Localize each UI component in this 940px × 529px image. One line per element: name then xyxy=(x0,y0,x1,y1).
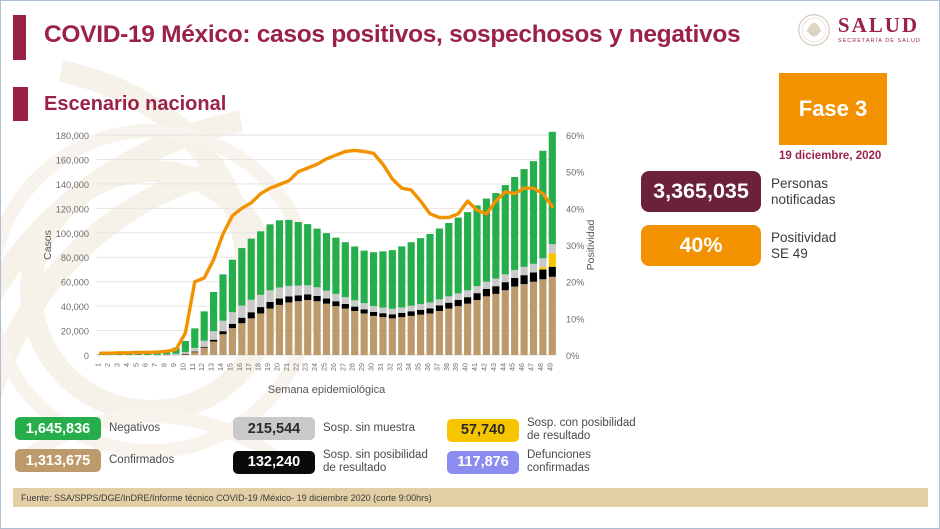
bar-segment xyxy=(191,352,198,355)
bar-segment xyxy=(530,272,537,281)
bar-segment xyxy=(473,205,480,286)
y-axis-tick-label: 140,000 xyxy=(56,180,89,190)
bar-segment xyxy=(445,223,452,296)
bar-segment xyxy=(370,316,377,355)
bar-segment xyxy=(417,310,424,315)
x-axis-tick-label: 8 xyxy=(160,363,169,367)
bar-segment xyxy=(379,317,386,355)
chart-legend: 1,645,836 Negativos 1,313,675 Confirmado… xyxy=(15,415,675,483)
bar-segment xyxy=(295,222,302,286)
bar-segment xyxy=(238,323,245,355)
bar-segment xyxy=(389,250,396,309)
bar-segment xyxy=(295,286,302,296)
bar-segment xyxy=(191,328,198,348)
section-title: Escenario nacional xyxy=(44,93,226,116)
bar-segment xyxy=(285,220,292,286)
bar-segment xyxy=(549,277,556,355)
kpi-value-positividad: 40% xyxy=(641,225,761,266)
kpi-label-line1: Personas xyxy=(771,176,828,191)
x-axis-title: Semana epidemiológica xyxy=(268,384,386,396)
bar-segment xyxy=(361,303,368,309)
bar-segment xyxy=(191,352,198,353)
mexico-seal-icon xyxy=(797,13,831,47)
bar-segment xyxy=(323,304,330,355)
bar-segment xyxy=(342,309,349,355)
bar-segment xyxy=(229,312,236,324)
y2-axis-tick-label: 20% xyxy=(566,278,584,288)
bar-segment xyxy=(398,317,405,355)
bar-segment xyxy=(473,300,480,355)
x-axis-tick-label: 7 xyxy=(150,363,159,367)
bar-segment xyxy=(351,311,358,355)
bar-segment xyxy=(266,309,273,355)
legend-label-defunciones: Defunciones confirmadas xyxy=(527,449,591,475)
bar-segment xyxy=(295,301,302,355)
y2-axis-tick-label: 50% xyxy=(566,168,584,178)
bar-segment xyxy=(314,301,321,355)
y-axis-tick-label: 80,000 xyxy=(61,253,89,263)
x-axis-tick-label: 24 xyxy=(310,363,319,371)
bar-segment xyxy=(314,287,321,296)
x-axis-tick-label: 15 xyxy=(225,363,234,371)
legend-value-sosp-con-posibilidad: 57,740 xyxy=(447,419,519,442)
bar-segment xyxy=(332,294,339,301)
x-axis-tick-label: 16 xyxy=(235,363,244,371)
bar-segment xyxy=(426,308,433,313)
bar-segment xyxy=(530,161,537,264)
bar-segment xyxy=(219,321,226,331)
legend-label-line2: de resultado xyxy=(527,430,590,442)
bar-segment xyxy=(201,341,208,347)
bar-segment xyxy=(455,218,462,294)
bar-segment xyxy=(492,279,499,287)
kpi-label-notificadas: Personas notificadas xyxy=(771,176,836,207)
y-axis-tick-label: 120,000 xyxy=(56,204,89,214)
bar-segment xyxy=(492,294,499,355)
bar-segment xyxy=(530,282,537,355)
y2-axis-tick-label: 10% xyxy=(566,314,584,324)
source-footer: Fuente: SSA/SPPS/DGE/InDRE/Informe técni… xyxy=(13,488,928,507)
bar-segment xyxy=(332,238,339,294)
salud-logo: SALUD SECRETARÍA DE SALUD xyxy=(797,13,921,47)
bar-segment xyxy=(408,311,415,316)
y-axis-tick-label: 160,000 xyxy=(56,155,89,165)
y2-axis-tick-label: 40% xyxy=(566,204,584,214)
x-axis-tick-label: 23 xyxy=(301,363,310,371)
bar-segment xyxy=(361,251,368,304)
x-axis-tick-label: 25 xyxy=(320,363,329,371)
x-axis-tick-label: 29 xyxy=(357,363,366,371)
x-axis-tick-label: 34 xyxy=(404,363,413,371)
bar-segment xyxy=(191,348,198,352)
kpi-label-positividad: Positividad SE 49 xyxy=(771,230,836,261)
bar-segment xyxy=(248,312,255,318)
bar-segment xyxy=(182,352,189,354)
bar-segment xyxy=(210,292,217,331)
bar-segment xyxy=(182,341,189,352)
y-axis-tick-label: 60,000 xyxy=(61,278,89,288)
bar-segment xyxy=(266,302,273,309)
x-axis-tick-label: 9 xyxy=(169,363,178,367)
y2-axis-tick-label: 30% xyxy=(566,241,584,251)
bar-segment xyxy=(370,252,377,306)
x-axis-tick-label: 6 xyxy=(141,363,150,367)
bar-segment xyxy=(549,132,556,244)
logo-subtitle: SECRETARÍA DE SALUD xyxy=(838,39,921,44)
x-axis-tick-label: 32 xyxy=(385,363,394,371)
bar-segment xyxy=(521,169,528,267)
bar-segment xyxy=(266,224,273,290)
bar-segment xyxy=(455,293,462,300)
legend-item-sosp-sin-muestra: 215,544 Sosp. sin muestra xyxy=(233,417,415,440)
bar-segment xyxy=(276,305,283,355)
source-text: Fuente: SSA/SPPS/DGE/InDRE/Informe técni… xyxy=(13,493,432,503)
bar-segment xyxy=(408,306,415,312)
bar-segment xyxy=(342,304,349,309)
bar-segment xyxy=(455,300,462,306)
bar-segment xyxy=(210,342,217,355)
x-axis-tick-label: 45 xyxy=(508,363,517,371)
legend-label-line1: Confirmados xyxy=(109,454,174,466)
bar-segment xyxy=(238,306,245,318)
x-axis-tick-label: 10 xyxy=(178,363,187,371)
x-axis-tick-label: 11 xyxy=(188,363,197,370)
bar-segment xyxy=(276,299,283,305)
bar-segment xyxy=(539,270,546,280)
bar-segment xyxy=(408,242,415,306)
x-axis-tick-label: 39 xyxy=(451,363,460,371)
bar-segment xyxy=(304,294,311,300)
legend-value-negativos: 1,645,836 xyxy=(15,417,101,440)
bar-segment xyxy=(436,306,443,312)
bar-segment xyxy=(426,302,433,308)
x-axis-tick-label: 36 xyxy=(423,363,432,371)
bar-segment xyxy=(219,334,226,355)
bar-segment xyxy=(417,238,424,304)
x-axis-tick-label: 14 xyxy=(216,363,225,371)
bar-segment xyxy=(172,354,179,355)
x-axis-tick-label: 40 xyxy=(461,363,470,371)
bar-segment xyxy=(219,331,226,334)
bar-segment xyxy=(323,299,330,304)
x-axis-tick-label: 27 xyxy=(338,363,347,371)
bar-segment xyxy=(464,290,471,297)
x-axis-tick-label: 17 xyxy=(244,363,253,371)
bar-segment xyxy=(361,313,368,355)
x-axis-tick-label: 1 xyxy=(94,363,103,367)
legend-label-line2: de resultado xyxy=(323,462,386,474)
bar-segment xyxy=(464,212,471,290)
y-axis-tick-label: 100,000 xyxy=(56,229,89,239)
bar-segment xyxy=(398,313,405,317)
legend-label-sosp-sin-posibilidad: Sosp. sin posibilidad de resultado xyxy=(323,449,428,475)
bar-segment xyxy=(229,328,236,355)
bar-segment xyxy=(257,231,264,295)
x-axis-tick-label: 28 xyxy=(348,363,357,371)
bar-segment xyxy=(549,244,556,253)
legend-label-confirmados: Confirmados xyxy=(109,454,174,467)
bar-segment xyxy=(304,285,311,294)
bar-segment xyxy=(417,315,424,355)
legend-label-line1: Sosp. con posibilidad xyxy=(527,417,636,429)
x-axis-tick-label: 20 xyxy=(272,363,281,371)
kpi-label-line2: SE 49 xyxy=(771,246,808,261)
bar-segment xyxy=(257,295,264,307)
legend-label-line2: confirmadas xyxy=(527,462,590,474)
legend-label-sosp-sin-muestra: Sosp. sin muestra xyxy=(323,422,415,435)
bar-segment xyxy=(502,282,509,290)
x-axis-tick-label: 21 xyxy=(282,363,291,371)
bar-segment xyxy=(276,220,283,287)
bar-segment xyxy=(539,279,546,355)
bar-segment xyxy=(285,286,292,296)
y2-axis-tick-label: 0% xyxy=(566,351,579,361)
x-axis-tick-label: 13 xyxy=(207,363,216,371)
kpi-positividad: 40% Positividad SE 49 xyxy=(641,225,836,266)
bar-segment xyxy=(426,234,433,302)
legend-item-defunciones: 117,876 Defunciones confirmadas xyxy=(447,449,591,475)
bar-segment xyxy=(511,270,518,278)
bar-segment xyxy=(163,355,170,356)
bar-segment xyxy=(398,246,405,307)
legend-label-line1: Defunciones xyxy=(527,449,591,461)
bar-segment xyxy=(492,286,499,294)
bar-segment xyxy=(521,284,528,355)
bar-segment xyxy=(285,302,292,355)
section-accent-bar xyxy=(13,87,28,121)
legend-value-defunciones: 117,876 xyxy=(447,451,519,474)
x-axis-tick-label: 35 xyxy=(414,363,423,371)
title-accent-bar xyxy=(13,15,26,60)
x-axis-tick-label: 4 xyxy=(122,363,131,367)
bar-segment xyxy=(511,278,518,287)
x-axis-tick-label: 18 xyxy=(254,363,263,371)
kpi-personas-notificadas: 3,365,035 Personas notificadas xyxy=(641,171,836,212)
bar-segment xyxy=(539,267,546,269)
bar-segment xyxy=(436,229,443,300)
x-axis-tick-label: 33 xyxy=(395,363,404,371)
bar-segment xyxy=(530,264,537,273)
bar-segment xyxy=(257,307,264,313)
bar-segment xyxy=(398,307,405,312)
bar-segment xyxy=(483,282,490,289)
y-axis-tick-label: 180,000 xyxy=(56,131,89,141)
phase-label: Fase 3 xyxy=(799,96,868,122)
bar-segment xyxy=(323,291,330,299)
x-axis-tick-label: 44 xyxy=(498,363,507,371)
phase-badge: Fase 3 xyxy=(779,73,887,145)
bar-segment xyxy=(304,300,311,355)
y-axis-tick-label: 0 xyxy=(84,351,89,361)
kpi-label-line2: notificadas xyxy=(771,192,836,207)
bar-segment xyxy=(502,290,509,355)
bar-segment xyxy=(445,309,452,355)
legend-value-sosp-sin-posibilidad: 132,240 xyxy=(233,451,315,474)
kpi-value-notificadas: 3,365,035 xyxy=(641,171,761,212)
bar-segment xyxy=(229,260,236,313)
legend-label-sosp-con-posibilidad: Sosp. con posibilidad de resultado xyxy=(527,417,636,443)
bar-segment xyxy=(521,275,528,284)
bar-segment xyxy=(276,288,283,299)
legend-item-confirmados: 1,313,675 Confirmados xyxy=(15,449,174,472)
bar-segment xyxy=(238,248,245,305)
bar-segment xyxy=(549,253,556,266)
bar-segment xyxy=(201,347,208,348)
x-axis-tick-label: 2 xyxy=(103,363,112,367)
bar-segment xyxy=(351,307,358,311)
bar-segment xyxy=(314,296,321,301)
bar-segment xyxy=(332,301,339,306)
bar-segment xyxy=(483,289,490,296)
bar-segment xyxy=(210,331,217,340)
x-axis-tick-label: 19 xyxy=(263,363,272,371)
bar-segment xyxy=(539,258,546,267)
x-axis-tick-label: 46 xyxy=(517,363,526,371)
x-axis-tick-label: 38 xyxy=(442,363,451,371)
bar-segment xyxy=(502,274,509,282)
bar-segment xyxy=(464,297,471,303)
x-axis-tick-label: 3 xyxy=(113,363,122,367)
bar-segment xyxy=(549,267,556,277)
x-axis-tick-label: 22 xyxy=(291,363,300,371)
legend-label-line1: Sosp. sin muestra xyxy=(323,422,415,434)
x-axis-tick-label: 47 xyxy=(526,363,535,371)
x-axis-tick-label: 31 xyxy=(376,363,385,371)
bar-segment xyxy=(370,306,377,312)
bar-segment xyxy=(323,233,330,290)
bar-segment xyxy=(210,340,217,342)
legend-label-line1: Sosp. sin posibilidad xyxy=(323,449,428,461)
bar-segment xyxy=(426,313,433,355)
bar-segment xyxy=(473,293,480,300)
bar-segment xyxy=(342,242,349,297)
bar-segment xyxy=(257,313,264,355)
bar-segment xyxy=(342,297,349,304)
epidemic-curve-chart: 020,00040,00060,00080,000100,000120,0001… xyxy=(34,127,619,402)
bar-segment xyxy=(389,318,396,355)
bar-segment xyxy=(502,185,509,274)
x-axis-tick-label: 12 xyxy=(197,363,206,371)
bar-segment xyxy=(266,290,273,302)
bar-segment xyxy=(154,355,161,356)
bar-segment xyxy=(370,312,377,316)
bar-segment xyxy=(295,295,302,301)
y-axis-tick-label: 40,000 xyxy=(61,302,89,312)
bar-segment xyxy=(248,239,255,300)
x-axis-tick-label: 41 xyxy=(470,363,479,371)
bar-segment xyxy=(408,316,415,355)
x-axis-tick-label: 42 xyxy=(479,363,488,371)
bar-segment xyxy=(539,151,546,259)
bar-segment xyxy=(248,318,255,355)
bar-segment xyxy=(172,355,179,356)
bar-segment xyxy=(521,267,528,275)
bar-segment xyxy=(351,246,358,300)
legend-item-sosp-sin-posibilidad: 132,240 Sosp. sin posibilidad de resulta… xyxy=(233,449,428,475)
legend-value-sosp-sin-muestra: 215,544 xyxy=(233,417,315,440)
bar-segment xyxy=(182,354,189,355)
bar-segment xyxy=(201,311,208,340)
bar-segment xyxy=(304,224,311,285)
x-axis-tick-label: 5 xyxy=(131,363,140,367)
report-date: 19 diciembre, 2020 xyxy=(779,150,881,162)
bar-segment xyxy=(379,251,386,307)
bar-segment xyxy=(464,304,471,355)
bar-segment xyxy=(229,324,236,328)
legend-label-negativos: Negativos xyxy=(109,422,160,435)
legend-label-line1: Negativos xyxy=(109,422,160,434)
y-axis-tick-label: 20,000 xyxy=(61,327,89,337)
bar-segment xyxy=(389,314,396,318)
y-axis-title: Casos xyxy=(42,230,54,260)
bar-segment xyxy=(351,300,358,306)
x-axis-tick-label: 30 xyxy=(367,363,376,371)
bar-segment xyxy=(332,306,339,355)
page-title: COVID-19 México: casos positivos, sospec… xyxy=(44,21,740,49)
bar-segment xyxy=(361,309,368,313)
bar-segment xyxy=(219,274,226,320)
bar-segment xyxy=(314,229,321,288)
bar-segment xyxy=(379,313,386,317)
legend-value-confirmados: 1,313,675 xyxy=(15,449,101,472)
bar-segment xyxy=(455,306,462,355)
y2-axis-tick-label: 60% xyxy=(566,131,584,141)
bar-segment xyxy=(445,303,452,309)
bar-segment xyxy=(473,286,480,293)
bar-segment xyxy=(379,308,386,314)
bar-segment xyxy=(285,296,292,302)
legend-item-sosp-con-posibilidad: 57,740 Sosp. con posibilidad de resultad… xyxy=(447,417,636,443)
bar-segment xyxy=(436,299,443,305)
x-axis-tick-label: 49 xyxy=(545,363,554,371)
logo-wordmark: SALUD xyxy=(838,15,921,36)
x-axis-tick-label: 26 xyxy=(329,363,338,371)
bar-segment xyxy=(248,300,255,312)
bar-segment xyxy=(511,287,518,355)
x-axis-tick-label: 43 xyxy=(489,363,498,371)
x-axis-tick-label: 37 xyxy=(432,363,441,371)
bar-segment xyxy=(436,311,443,355)
kpi-label-line1: Positividad xyxy=(771,230,836,245)
x-axis-tick-label: 48 xyxy=(536,363,545,371)
legend-item-negativos: 1,645,836 Negativos xyxy=(15,417,160,440)
bar-segment xyxy=(201,348,208,355)
bar-segment xyxy=(417,304,424,310)
slide-root: COVID-19 México: casos positivos, sospec… xyxy=(0,0,940,529)
bar-segment xyxy=(238,318,245,324)
y2-axis-title: Positividad xyxy=(585,219,597,270)
bar-segment xyxy=(445,296,452,302)
bar-segment xyxy=(483,296,490,355)
bar-segment xyxy=(389,309,396,315)
